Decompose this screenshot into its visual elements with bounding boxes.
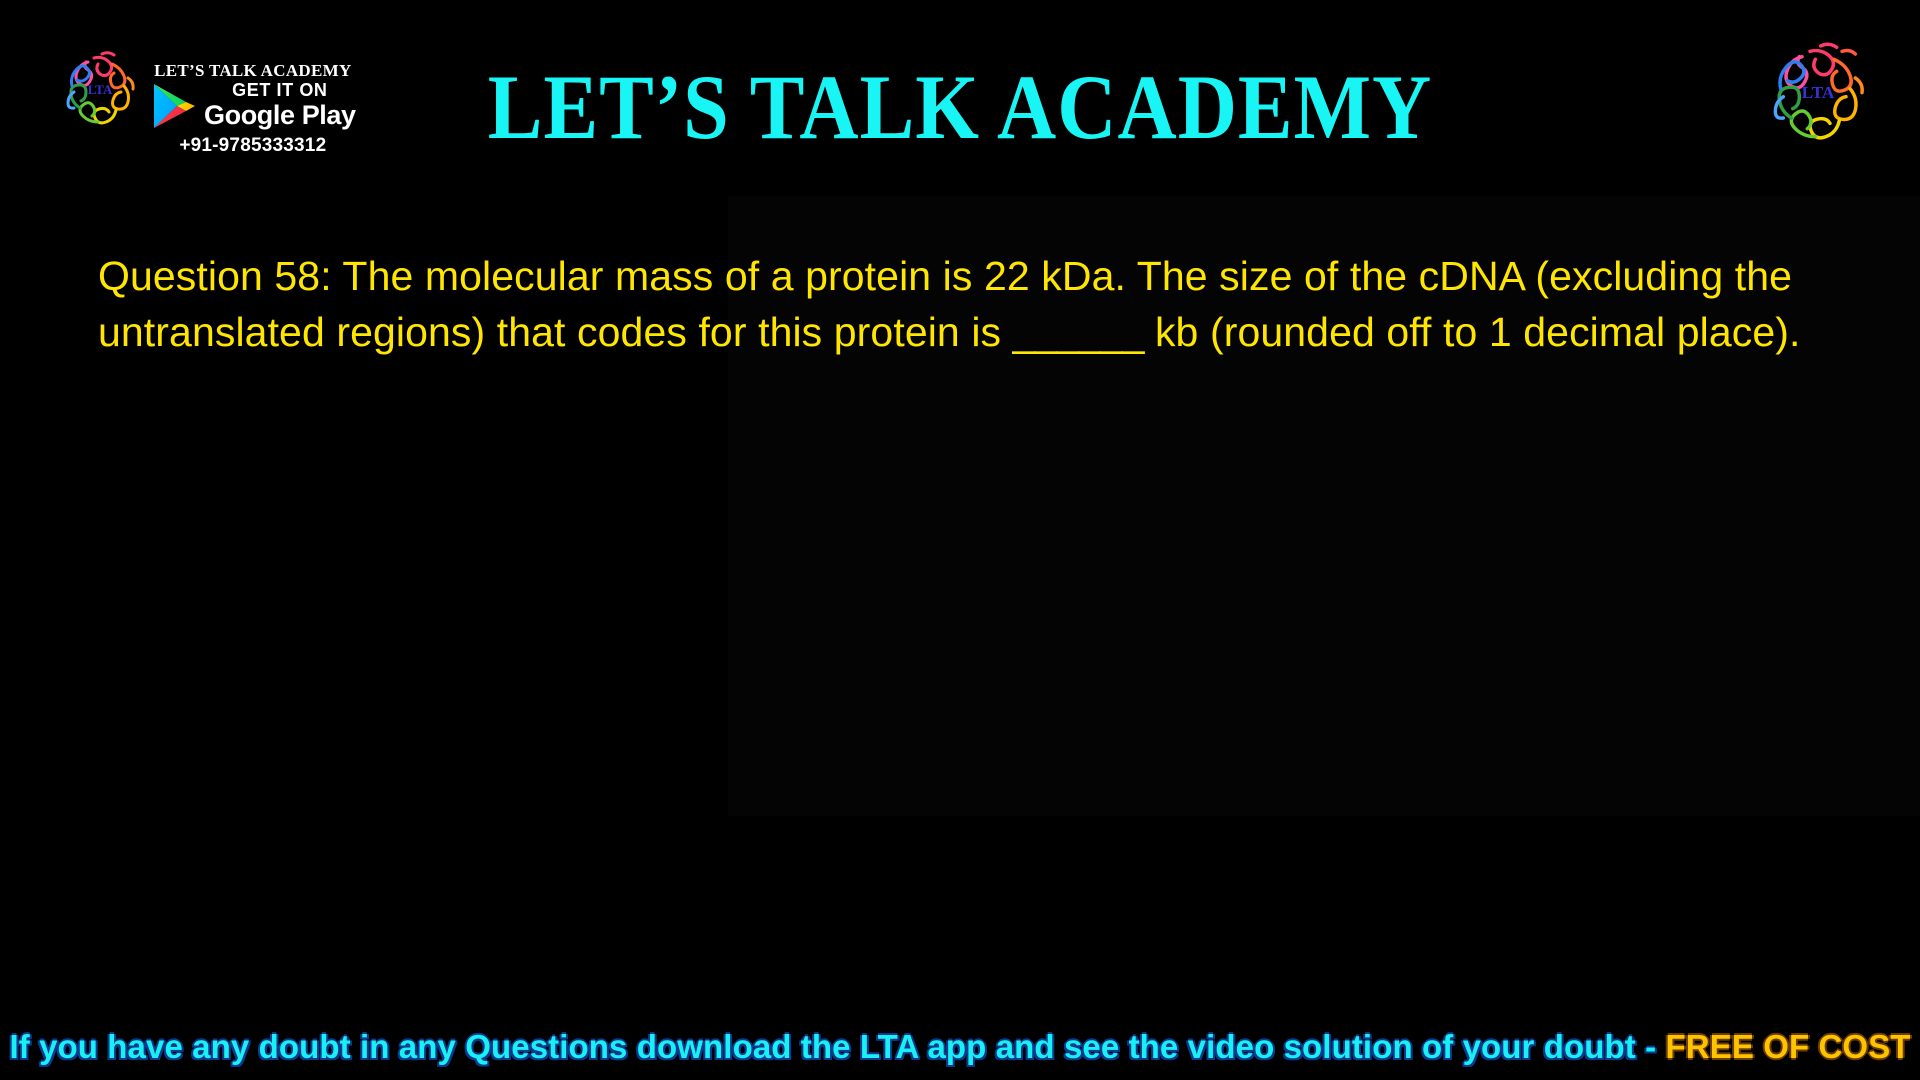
logo-lta-text: LTA bbox=[1802, 83, 1835, 102]
lta-protein-ribbon-logo-icon-right: LTA bbox=[1762, 38, 1874, 150]
question-text: Question 58: The molecular mass of a pro… bbox=[98, 248, 1838, 360]
question-answer-blank[interactable]: ______ bbox=[1013, 309, 1144, 355]
footer-banner: If you have any doubt in any Questions d… bbox=[0, 1028, 1920, 1066]
footer-highlight: FREE OF COST bbox=[1666, 1028, 1911, 1065]
footer-message: If you have any doubt in any Questions d… bbox=[9, 1028, 1665, 1065]
slide-root: LTA LET’S TALK ACADEMY bbox=[0, 0, 1920, 1080]
slide-header: LTA LET’S TALK ACADEMY bbox=[0, 0, 1920, 196]
page-title: LET’S TALK ACADEMY bbox=[0, 62, 1920, 154]
question-text-after-blank: kb (rounded off to 1 decimal place). bbox=[1143, 309, 1800, 355]
